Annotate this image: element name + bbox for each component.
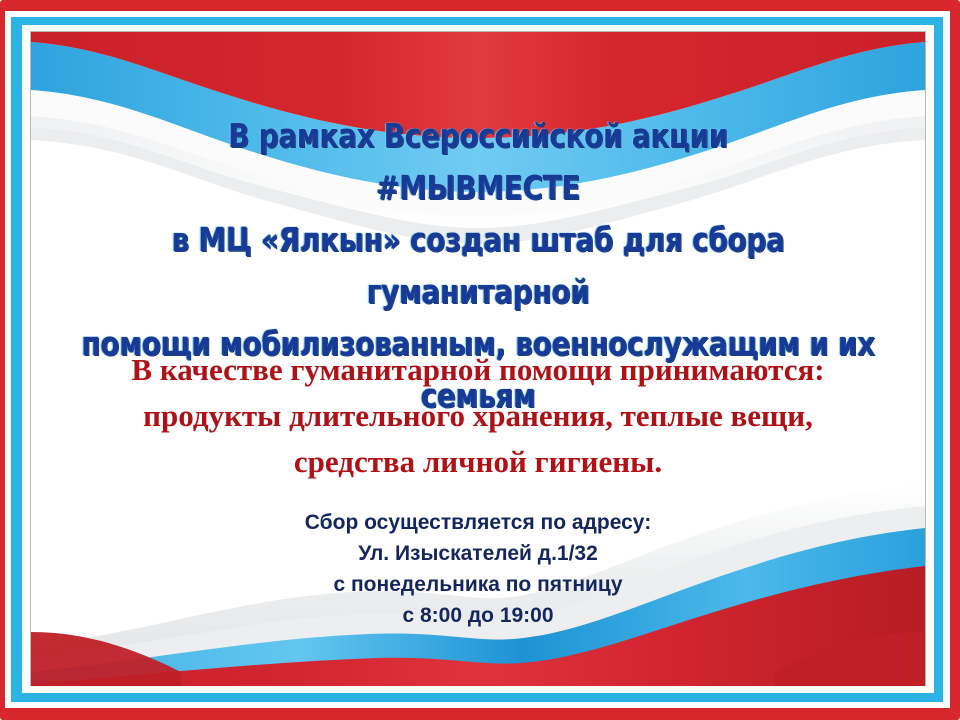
poster-text-layer: В рамках Всероссийской акции #МЫВМЕСТЕ в… [31, 32, 925, 686]
donation-line-1: В качестве гуманитарной помощи принимают… [31, 347, 925, 393]
poster-canvas: В рамках Всероссийской акции #МЫВМЕСТЕ в… [31, 32, 925, 686]
donation-line-2: продукты длительного хранения, теплые ве… [31, 393, 925, 439]
heading-line-2-hashtag: #МЫВМЕСТЕ [58, 162, 898, 214]
info-line-address: Ул. Изыскателей д.1/32 [31, 538, 925, 569]
info-line-hours: с 8:00 до 19:00 [31, 600, 925, 631]
heading-line-1: В рамках Всероссийской акции [58, 110, 898, 162]
collection-details-text: Сбор осуществляется по адресу: Ул. Изыск… [31, 507, 925, 631]
announcement-poster: В рамках Всероссийской акции #МЫВМЕСТЕ в… [0, 0, 960, 720]
info-line-address-label: Сбор осуществляется по адресу: [31, 507, 925, 538]
donation-line-3: средства личной гигиены. [31, 439, 925, 485]
info-line-days: с понедельника по пятницу [31, 569, 925, 600]
donation-items-text: В качестве гуманитарной помощи принимают… [31, 347, 925, 485]
heading-line-3: в МЦ «Ялкын» создан штаб для сбора гуман… [58, 214, 898, 318]
